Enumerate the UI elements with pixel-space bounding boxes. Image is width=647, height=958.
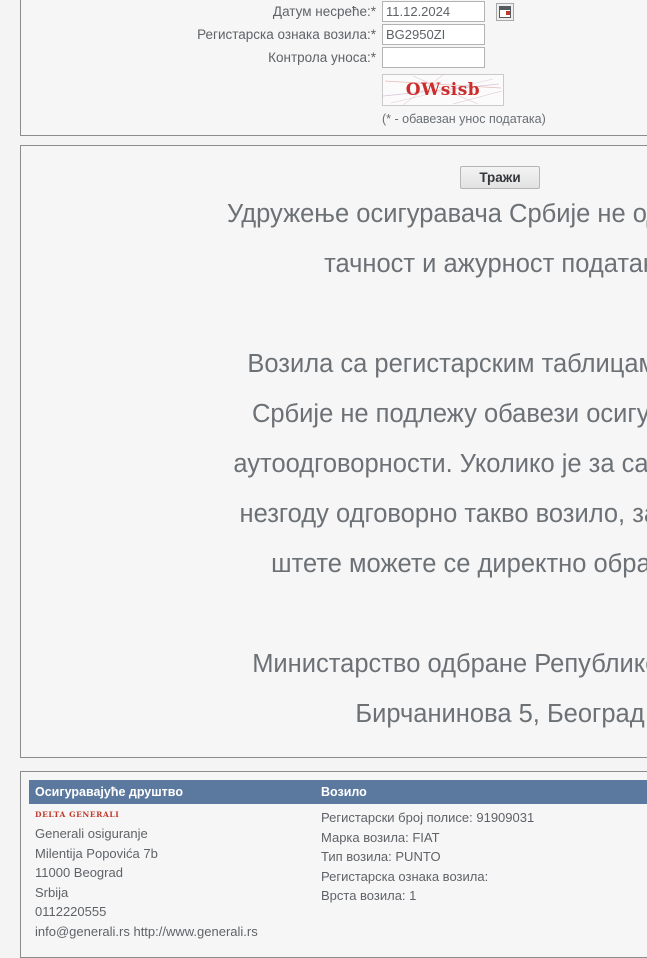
- field-accident-date-cell: [382, 0, 546, 23]
- search-form-table: Датум несреће:* Регистарска ознака возил…: [21, 0, 546, 127]
- company-name: Generali osiguranje: [35, 824, 309, 844]
- company-contact-links[interactable]: info@generali.rs http://www.generali.rs: [35, 922, 309, 942]
- vehicle-category: Врста возила: 1: [321, 886, 647, 906]
- notice-line: Удружење осигуравача Србије не одговара …: [21, 189, 647, 239]
- column-header-vehicle: Возило: [315, 780, 647, 804]
- form-row-plate: Регистарска ознака возила:*: [21, 23, 546, 46]
- plate-input[interactable]: [382, 24, 485, 45]
- calendar-icon-dot: [506, 11, 510, 15]
- company-street: Milentija Popovića 7b: [35, 844, 309, 864]
- form-row-captcha-input: Контрола уноса:*: [21, 46, 546, 69]
- cell-company: DELTA GENERALI Generali osiguranje Milen…: [29, 804, 315, 947]
- notice-spacer: [21, 589, 647, 639]
- search-button-row: Тражи: [21, 162, 647, 189]
- notice-paragraph-2: Возила са регистарским таблицама Војске …: [21, 339, 647, 589]
- results-table: Осигуравајуће друштво Возило DELTA GENER…: [29, 780, 647, 947]
- results-table-head: Осигуравајуће друштво Возило: [29, 780, 647, 804]
- field-captcha-cell: [382, 46, 546, 69]
- form-row-captcha-image: OWsisb (* - обавезан унос података): [21, 69, 546, 127]
- results-header-row: Осигуравајуће друштво Возило: [29, 780, 647, 804]
- notice-line: незгоду одговорно такво возило, за накна…: [21, 489, 647, 539]
- required-fields-note: (* - обавезан унос података): [382, 106, 546, 126]
- label-captcha: Контрола уноса:*: [21, 46, 382, 69]
- accident-date-input[interactable]: [382, 1, 485, 22]
- notice-spacer: [21, 289, 647, 339]
- notice-line: аутоодговорности. Уколико је за саобраћа…: [21, 439, 647, 489]
- results-table-body: DELTA GENERALI Generali osiguranje Milen…: [29, 804, 647, 947]
- vehicle-plate: Регистарска ознака возила:: [321, 867, 647, 887]
- captcha-image-spacer: [21, 69, 382, 127]
- notice-line: Србије не подлежу обавези осигурања од: [21, 389, 647, 439]
- delta-generali-logo: DELTA GENERALI: [35, 808, 309, 824]
- column-header-company: Осигуравајуће друштво: [29, 780, 315, 804]
- vehicle-type: Тип возила: PUNTO: [321, 847, 647, 867]
- cell-vehicle: Регистарски број полисе: 91909031 Марка …: [315, 804, 647, 947]
- search-form-panel: Датум несреће:* Регистарска ознака возил…: [20, 0, 647, 136]
- notice-line: штете можете се директно обратити у:: [21, 539, 647, 589]
- notice-line: Министарство одбране Републике Србије: [21, 639, 647, 689]
- label-accident-date: Датум несреће:*: [21, 0, 382, 23]
- vehicle-make: Марка возила: FIAT: [321, 828, 647, 848]
- company-city: 11000 Beograd: [35, 863, 309, 883]
- notice-line: Возила са регистарским таблицама Војске: [21, 339, 647, 389]
- notice-line: тачност и ажурност података.: [21, 239, 647, 289]
- search-button[interactable]: Тражи: [460, 166, 539, 189]
- captcha-image[interactable]: OWsisb: [382, 74, 504, 106]
- policy-number: Регистарски број полисе: 91909031: [321, 808, 647, 828]
- notice-paragraph-3: Министарство одбране Републике Србије Би…: [21, 639, 647, 739]
- form-row-accident-date: Датум несреће:*: [21, 0, 546, 23]
- results-panel: Осигуравајуће друштво Возило DELTA GENER…: [20, 771, 647, 958]
- table-row: DELTA GENERALI Generali osiguranje Milen…: [29, 804, 647, 947]
- label-plate: Регистарска ознака возила:*: [21, 23, 382, 46]
- field-plate-cell: [382, 23, 546, 46]
- company-country: Srbija: [35, 883, 309, 903]
- company-phone: 0112220555: [35, 902, 309, 922]
- captcha-image-cell: OWsisb (* - обавезан унос података): [382, 69, 546, 127]
- notice-paragraph-1: Удружење осигуравача Србије не одговара …: [21, 189, 647, 289]
- notice-panel: Тражи Удружење осигуравача Србије не одг…: [20, 145, 647, 758]
- notice-line: Бирчанинова 5, Београд: [21, 689, 647, 739]
- captcha-input[interactable]: [382, 47, 485, 68]
- page-root: Датум несреће:* Регистарска ознака возил…: [0, 0, 647, 958]
- calendar-icon[interactable]: [496, 3, 514, 21]
- captcha-text: OWsisb: [383, 75, 503, 105]
